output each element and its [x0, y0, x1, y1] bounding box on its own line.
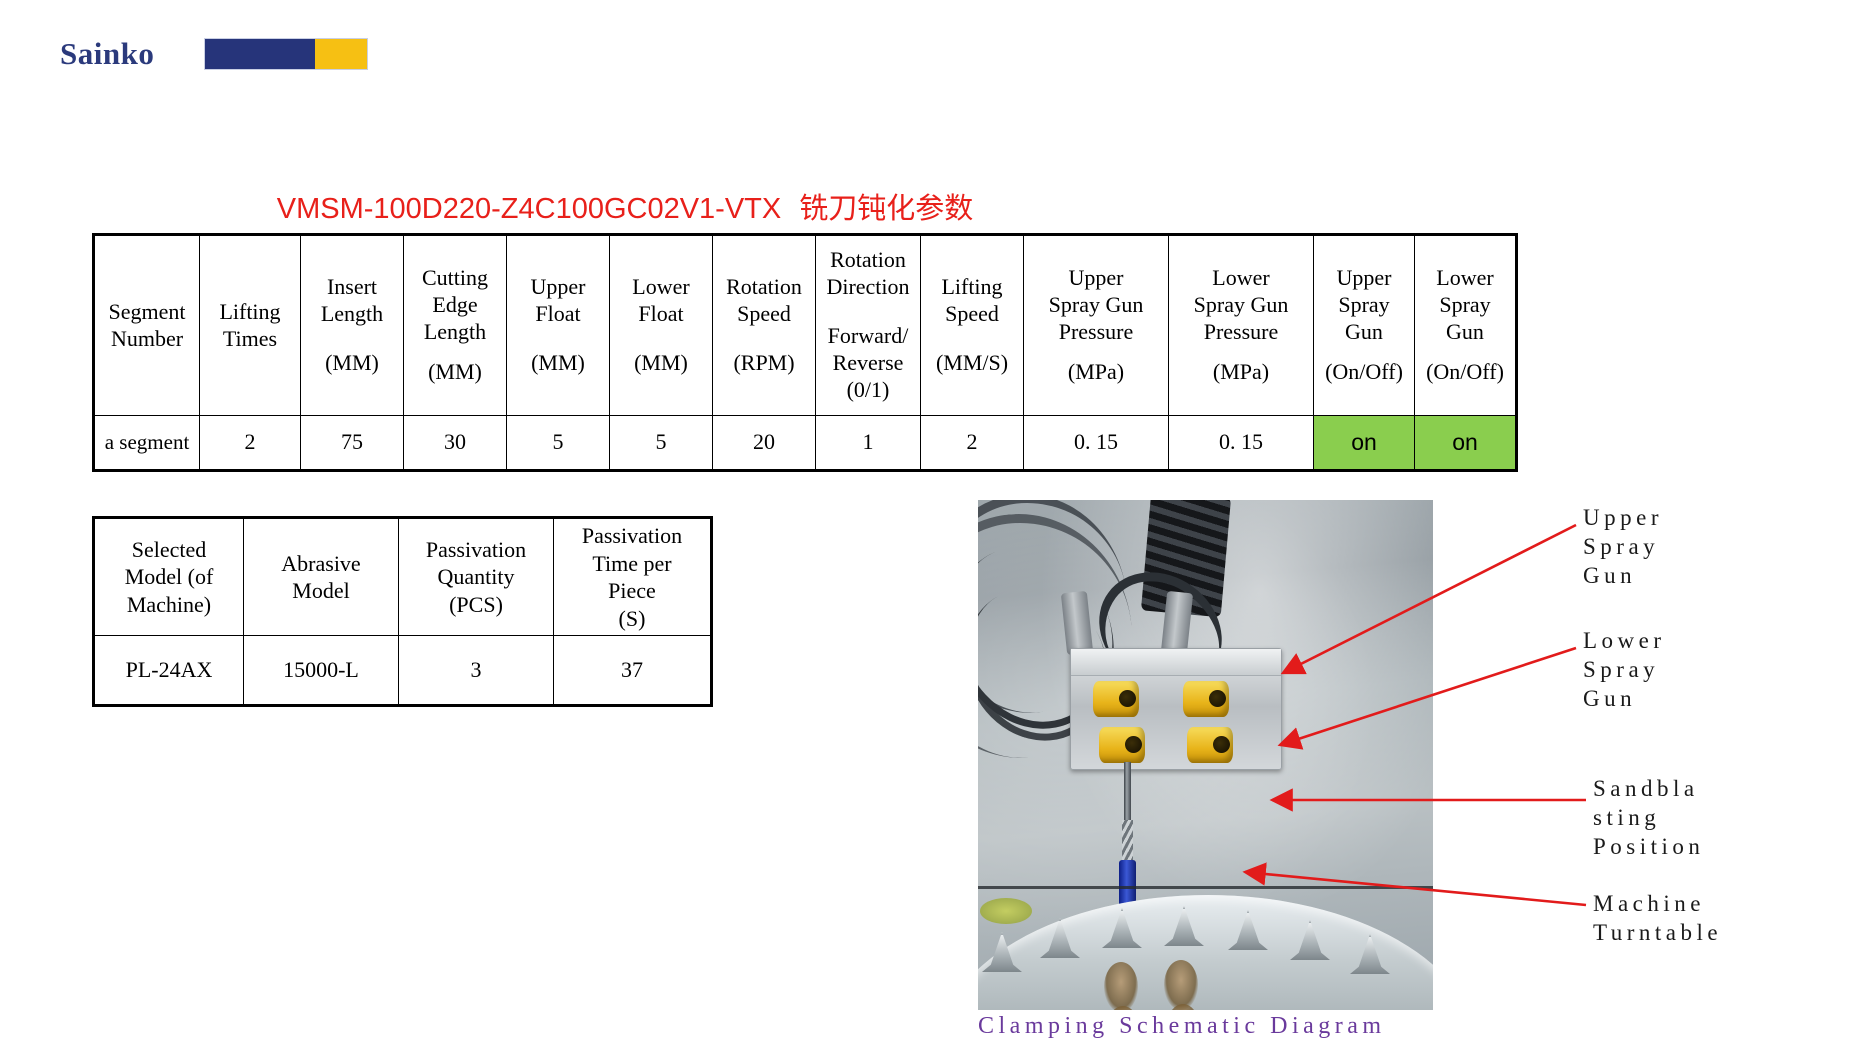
header-line1: Upper	[531, 274, 586, 299]
cell-passivation-time: 37	[554, 636, 712, 706]
header-line1: Rotation	[830, 247, 906, 272]
header-line1: Lower	[1212, 265, 1269, 290]
header-unit: (RPM)	[715, 350, 813, 377]
annotation-line3: Position	[1593, 833, 1704, 862]
header-line2: Edge	[432, 292, 477, 317]
cell-upper-float: 5	[507, 416, 610, 471]
header-line2: Float	[638, 301, 683, 326]
cell-abrasive-model: 15000-L	[244, 636, 399, 706]
header-unit: (MM/S)	[923, 350, 1021, 377]
cell-insert-length: 75	[301, 416, 404, 471]
cell-lifting-speed: 2	[921, 416, 1024, 471]
manifold-top-plate	[1071, 649, 1281, 676]
header-line1: Passivation	[582, 523, 682, 548]
lower-right-nozzle	[1187, 727, 1233, 763]
header-unit-forward: Forward/	[818, 323, 918, 350]
header-lifting-times: Lifting Times	[200, 235, 301, 416]
machine-selection-table: Selected Model (of Machine) Abrasive Mod…	[92, 516, 713, 707]
upper-right-nozzle	[1183, 681, 1229, 717]
header-unit: (MPa)	[1026, 359, 1166, 386]
cell-cutting-edge-length: 30	[404, 416, 507, 471]
header-line3: Machine)	[127, 592, 211, 617]
cell-lower-float: 5	[610, 416, 713, 471]
cell-rotation-direction: 1	[816, 416, 921, 471]
cell-selected-model: PL-24AX	[94, 636, 244, 706]
annotation-line2: Spray	[1583, 533, 1663, 562]
cell-lifting-times: 2	[200, 416, 301, 471]
header-line3: Pressure	[1059, 319, 1134, 344]
brand-bars	[204, 38, 368, 70]
header-unit: (On/Off)	[1417, 359, 1513, 386]
header-line2: Spray Gun	[1049, 292, 1144, 317]
header-upper-spray-gun: Upper Spray Gun (On/Off)	[1314, 235, 1415, 416]
annotation-line3: Gun	[1583, 685, 1666, 714]
page-title-model-code: VMSM-100D220-Z4C100GC02V1-VTX	[277, 193, 781, 225]
header-unit: (MM)	[406, 359, 504, 386]
header-unit: (MPa)	[1171, 359, 1311, 386]
cell-upper-spray-gun-pressure: 0. 15	[1024, 416, 1169, 471]
header-line1: Upper	[1337, 265, 1392, 290]
header-line3: Pressure	[1204, 319, 1279, 344]
upper-left-nozzle	[1093, 681, 1139, 717]
clamping-schematic-photo	[978, 500, 1433, 1010]
annotation-line1: Machine	[1593, 890, 1722, 919]
table-row: a segment 2 75 30 5 5 20 1 2 0. 15 0. 15…	[94, 416, 1517, 471]
photo-caption: Clamping Schematic Diagram	[978, 1013, 1448, 1040]
header-lower-float: Lower Float (MM)	[610, 235, 713, 416]
header-unit: (S)	[619, 606, 646, 631]
header-passivation-quantity: Passivation Quantity (PCS)	[399, 518, 554, 636]
header-line1: Lower	[632, 274, 689, 299]
table-header-row: Selected Model (of Machine) Abrasive Mod…	[94, 518, 712, 636]
header-line2: Speed	[945, 301, 999, 326]
cell-segment-number: a segment	[94, 416, 200, 471]
cell-rotation-speed: 20	[713, 416, 816, 471]
reflection-1	[1104, 962, 1138, 1010]
header-line3: Gun	[1345, 319, 1383, 344]
header-line1: Cutting	[422, 265, 488, 290]
header-lower-spray-gun-pressure: Lower Spray Gun Pressure (MPa)	[1169, 235, 1314, 416]
header-line1: Passivation	[426, 537, 526, 562]
annotation-sandblasting-position: Sandbla sting Position	[1593, 775, 1704, 862]
header-line1: Upper	[1069, 265, 1124, 290]
header-line2: Time per	[592, 551, 671, 576]
header-unit: (MM)	[612, 350, 710, 377]
annotation-line2: sting	[1593, 804, 1704, 833]
annotation-upper-spray-gun: Upper Spray Gun	[1583, 504, 1663, 591]
annotation-line2: Spray	[1583, 656, 1666, 685]
header-line1: Lifting	[941, 274, 1002, 299]
annotation-lower-spray-gun: Lower Spray Gun	[1583, 627, 1666, 714]
header-unit: (MM)	[303, 350, 401, 377]
header-line1: Abrasive	[281, 551, 360, 576]
header-unit: (MM)	[509, 350, 607, 377]
header-passivation-time: Passivation Time per Piece (S)	[554, 518, 712, 636]
header-line2: Spray Gun	[1194, 292, 1289, 317]
brand-logo: Sainko	[60, 36, 368, 72]
header-cutting-edge-length: Cutting Edge Length (MM)	[404, 235, 507, 416]
header-line1: Segment	[109, 299, 186, 324]
header-line3: Piece	[608, 578, 656, 603]
header-line2: Spray	[1439, 292, 1490, 317]
table-header-row: Segment Number Lifting Times Insert Leng…	[94, 235, 1517, 416]
header-line1: Selected	[132, 537, 207, 562]
header-line2: Spray	[1338, 292, 1389, 317]
brand-bar-navy	[205, 39, 315, 69]
spray-gun-manifold	[1070, 648, 1282, 770]
annotation-machine-turntable: Machine Turntable	[1593, 890, 1722, 948]
header-unit: (On/Off)	[1316, 359, 1412, 386]
header-rotation-speed: Rotation Speed (RPM)	[713, 235, 816, 416]
header-upper-float: Upper Float (MM)	[507, 235, 610, 416]
header-segment-number: Segment Number	[94, 235, 200, 416]
header-line1: Insert	[327, 274, 377, 299]
header-line2: Model (of	[125, 564, 214, 589]
header-line2: Speed	[737, 301, 791, 326]
end-mill-flutes	[1122, 820, 1133, 862]
annotation-line2: Turntable	[1593, 919, 1722, 948]
passivation-parameter-table: Segment Number Lifting Times Insert Leng…	[92, 233, 1518, 472]
cell-upper-spray-gun-status: on	[1314, 416, 1415, 471]
header-line3: Length	[424, 319, 486, 344]
header-unit-code: (0/1)	[847, 377, 890, 402]
page-title-chinese: 铣刀钝化参数	[799, 193, 973, 225]
header-line3: Gun	[1446, 319, 1484, 344]
header-rotation-direction: Rotation Direction Forward/ Reverse (0/1…	[816, 235, 921, 416]
reflection-2	[1164, 960, 1198, 1010]
header-line1: Rotation	[726, 274, 802, 299]
cell-passivation-quantity: 3	[399, 636, 554, 706]
annotation-line1: Sandbla	[1593, 775, 1704, 804]
header-line2: Quantity	[438, 564, 515, 589]
header-line2: Number	[111, 326, 183, 351]
cell-lower-spray-gun-pressure: 0. 15	[1169, 416, 1314, 471]
table-row: PL-24AX 15000-L 3 37	[94, 636, 712, 706]
chamber-divider-line	[978, 886, 1433, 889]
brand-bar-gold	[315, 39, 367, 69]
page-title: VMSM-100D220-Z4C100GC02V1-VTX铣刀钝化参数	[0, 185, 1250, 227]
header-line2: Float	[535, 301, 580, 326]
header-unit-reverse: Reverse	[833, 350, 904, 375]
header-line2: Direction	[826, 274, 909, 299]
annotation-line1: Upper	[1583, 504, 1663, 533]
brand-name: Sainko	[60, 36, 154, 72]
header-lower-spray-gun: Lower Spray Gun (On/Off)	[1415, 235, 1517, 416]
header-insert-length: Insert Length (MM)	[301, 235, 404, 416]
green-part-blob	[980, 898, 1032, 924]
annotation-line3: Gun	[1583, 562, 1663, 591]
header-abrasive-model: Abrasive Model	[244, 518, 399, 636]
header-upper-spray-gun-pressure: Upper Spray Gun Pressure (MPa)	[1024, 235, 1169, 416]
cell-lower-spray-gun-status: on	[1415, 416, 1517, 471]
header-line1: Lifting	[219, 299, 280, 324]
header-line2: Length	[321, 301, 383, 326]
annotation-line1: Lower	[1583, 627, 1666, 656]
header-line1: Lower	[1436, 265, 1493, 290]
header-line3: (PCS)	[449, 592, 503, 617]
header-line2: Model	[292, 578, 349, 603]
lower-left-nozzle	[1099, 727, 1145, 763]
header-lifting-speed: Lifting Speed (MM/S)	[921, 235, 1024, 416]
header-selected-model: Selected Model (of Machine)	[94, 518, 244, 636]
header-line2: Times	[223, 326, 277, 351]
